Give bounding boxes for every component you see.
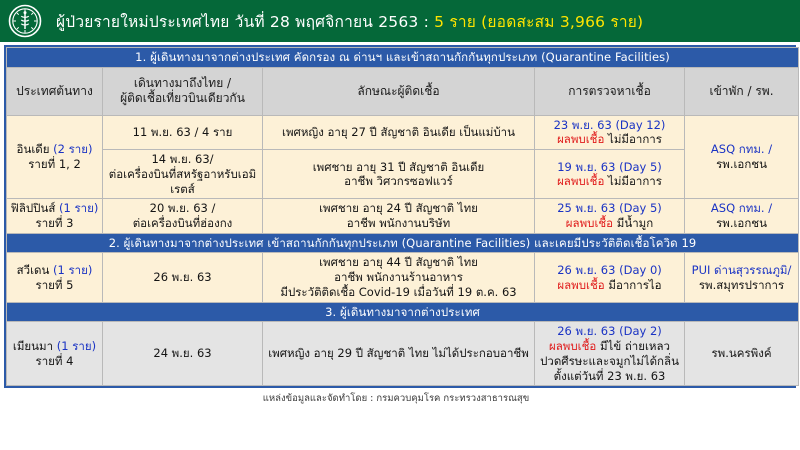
test-result-status: ผลพบเชื้อ	[557, 278, 604, 292]
test-symptoms: ไม่มีอาการ	[604, 174, 662, 188]
test-result-status: ผลพบเชื้อ	[566, 216, 613, 230]
cell-arrival: 26 พ.ย. 63	[103, 253, 263, 302]
table-row: อินเดีย (2 ราย) รายที่ 1, 2 11 พ.ย. 63 /…	[7, 115, 799, 149]
arrival-line: ต่อเครื่องบินที่สหรัฐอาหรับเอมิเรตส์	[106, 167, 259, 196]
country-case-count: (2 ราย)	[53, 142, 92, 156]
report-page: ผู้ป่วยรายใหม่ประเทศไทย วันที่ 28 พฤศจิก…	[0, 0, 800, 450]
column-header-accommodation: เข้าพัก / รพ.	[685, 67, 799, 115]
cell-accommodation: ASQ กทม. / รพ.เอกชน	[685, 115, 799, 199]
profile-line: เพศชาย อายุ 24 ปี สัญชาติ ไทย	[266, 201, 531, 216]
section-header-2: 2. ผู้เดินทางมาจากต่างประเทศ เข้าสถานกัก…	[7, 233, 799, 253]
source-attribution: แหล่งข้อมูลและจัดทำโดย : กรมควบคุมโรค กร…	[0, 391, 800, 406]
cell-origin-country: ฟิลิปปินส์ (1 ราย) รายที่ 3	[7, 199, 103, 233]
country-case-numbers: รายที่ 1, 2	[10, 157, 99, 172]
accommodation-hospital: รพ.นครพิงค์	[688, 346, 795, 361]
profile-line: อาชีพ พนักงานร้านอาหาร	[266, 270, 531, 285]
arrival-line: 11 พ.ย. 63 / 4 ราย	[106, 125, 259, 140]
country-label: อินเดีย (2 ราย)	[10, 142, 99, 157]
country-case-count: (1 ราย)	[53, 263, 92, 277]
cases-table: 1. ผู้เดินทางมาจากต่างประเทศ คัดกรอง ณ ด…	[6, 47, 799, 386]
profile-line: อาชีพ วิศวกรซอฟแวร์	[266, 174, 531, 189]
arrival-line: 24 พ.ย. 63	[106, 346, 259, 361]
test-result-status: ผลพบเชื้อ	[549, 339, 596, 353]
table-row: สวีเดน (1 ราย) รายที่ 5 26 พ.ย. 63 เพศชา…	[7, 253, 799, 302]
table-column-header-row: ประเทศต้นทาง เดินทางมาถึงไทย / ผู้ติดเชื…	[7, 67, 799, 115]
country-name: อินเดีย	[17, 142, 50, 156]
accommodation-facility: PUI ด่านสุวรรณภูมิ/	[688, 263, 795, 278]
country-name: ฟิลิปปินส์	[11, 201, 56, 215]
test-symptoms-extra: ตั้งแต่วันที่ 23 พ.ย. 63	[538, 369, 681, 384]
column-header-origin-country: ประเทศต้นทาง	[7, 67, 103, 115]
column-header-arrival: เดินทางมาถึงไทย / ผู้ติดเชื้อเที่ยวบินเด…	[103, 67, 263, 115]
country-label: เมียนมา (1 ราย)	[10, 339, 99, 354]
arrival-line: ต่อเครื่องบินที่ฮ่องกง	[106, 216, 259, 231]
cell-test-result: 25 พ.ย. 63 (Day 5) ผลพบเชื้อ มีน้ำมูก	[535, 199, 685, 233]
test-symptoms: มีไข้ ถ่ายเหลว	[596, 339, 670, 353]
table-row: ฟิลิปปินส์ (1 ราย) รายที่ 3 20 พ.ย. 63 /…	[7, 199, 799, 233]
arrival-line: 20 พ.ย. 63 /	[106, 201, 259, 216]
country-label: ฟิลิปปินส์ (1 ราย)	[10, 201, 99, 216]
test-symptoms: มีน้ำมูก	[613, 216, 653, 230]
accommodation-hospital: รพ.สมุทรปราการ	[688, 278, 795, 293]
column-header-line: เดินทางมาถึงไทย /	[106, 76, 259, 91]
cell-accommodation: ASQ กทม. / รพ.เอกชน	[685, 199, 799, 233]
cell-case-profile: เพศหญิง อายุ 27 ปี สัญชาติ อินเดีย เป็นแ…	[263, 115, 535, 149]
cell-arrival: 11 พ.ย. 63 / 4 ราย	[103, 115, 263, 149]
test-result-line: ผลพบเชื้อ ไม่มีอาการ	[538, 174, 681, 189]
cell-accommodation: PUI ด่านสุวรรณภูมิ/ รพ.สมุทรปราการ	[685, 253, 799, 302]
profile-line: เพศหญิง อายุ 29 ปี สัญชาติ ไทย ไม่ได้ประ…	[266, 346, 531, 361]
test-result-line: ผลพบเชื้อ ไม่มีอาการ	[538, 132, 681, 147]
column-header-test-result: การตรวจหาเชื้อ	[535, 67, 685, 115]
column-header-line: ลักษณะผู้ติดเชื้อ	[266, 84, 531, 99]
country-label: สวีเดน (1 ราย)	[10, 263, 99, 278]
table-row: เมียนมา (1 ราย) รายที่ 4 24 พ.ย. 63 เพศห…	[7, 322, 799, 386]
cell-case-profile: เพศชาย อายุ 44 ปี สัญชาติ ไทย อาชีพ พนัก…	[263, 253, 535, 302]
section-header-3: 3. ผู้เดินทางมาจากต่างประเทศ	[7, 302, 799, 322]
country-case-count: (1 ราย)	[57, 339, 96, 353]
cell-test-result: 26 พ.ย. 63 (Day 0) ผลพบเชื้อ มีอาการไอ	[535, 253, 685, 302]
cell-accommodation: รพ.นครพิงค์	[685, 322, 799, 386]
test-date: 26 พ.ย. 63 (Day 2)	[538, 324, 681, 339]
cell-test-result: 23 พ.ย. 63 (Day 12) ผลพบเชื้อ ไม่มีอาการ	[535, 115, 685, 149]
column-header-case-profile: ลักษณะผู้ติดเชื้อ	[263, 67, 535, 115]
cell-test-result: 19 พ.ย. 63 (Day 5) ผลพบเชื้อ ไม่มีอาการ	[535, 150, 685, 199]
column-header-line: ผู้ติดเชื้อเที่ยวบินเดียวกัน	[106, 91, 259, 106]
country-name: เมียนมา	[13, 339, 53, 353]
cell-case-profile: เพศชาย อายุ 24 ปี สัญชาติ ไทย อาชีพ พนัก…	[263, 199, 535, 233]
page-header: ผู้ป่วยรายใหม่ประเทศไทย วันที่ 28 พฤศจิก…	[0, 0, 800, 42]
test-date: 19 พ.ย. 63 (Day 5)	[538, 160, 681, 175]
cases-table-frame: 1. ผู้เดินทางมาจากต่างประเทศ คัดกรอง ณ ด…	[4, 45, 796, 388]
profile-line: เพศหญิง อายุ 27 ปี สัญชาติ อินเดีย เป็นแ…	[266, 125, 531, 140]
test-result-status: ผลพบเชื้อ	[557, 132, 604, 146]
section-header-1: 1. ผู้เดินทางมาจากต่างประเทศ คัดกรอง ณ ด…	[7, 48, 799, 68]
page-title-main: ผู้ป่วยรายใหม่ประเทศไทย วันที่ 28 พฤศจิก…	[56, 13, 434, 31]
cell-origin-country: เมียนมา (1 ราย) รายที่ 4	[7, 322, 103, 386]
test-result-line: ผลพบเชื้อ มีไข้ ถ่ายเหลว	[538, 339, 681, 354]
column-header-line: การตรวจหาเชื้อ	[538, 84, 681, 99]
cell-arrival: 20 พ.ย. 63 / ต่อเครื่องบินที่ฮ่องกง	[103, 199, 263, 233]
cell-test-result: 26 พ.ย. 63 (Day 2) ผลพบเชื้อ มีไข้ ถ่ายเ…	[535, 322, 685, 386]
accommodation-facility: ASQ กทม. /	[688, 142, 795, 157]
profile-line: เพศชาย อายุ 44 ปี สัญชาติ ไทย	[266, 255, 531, 270]
section-header-2-label: 2. ผู้เดินทางมาจากต่างประเทศ เข้าสถานกัก…	[7, 233, 799, 253]
test-date: 23 พ.ย. 63 (Day 12)	[538, 118, 681, 133]
section-header-3-label: 3. ผู้เดินทางมาจากต่างประเทศ	[7, 302, 799, 322]
cell-arrival: 14 พ.ย. 63/ ต่อเครื่องบินที่สหรัฐอาหรับเ…	[103, 150, 263, 199]
test-date: 25 พ.ย. 63 (Day 5)	[538, 201, 681, 216]
test-symptoms-extra: ปวดศีรษะและจมูกไม่ได้กลิ่น	[538, 354, 681, 369]
column-header-line: ประเทศต้นทาง	[10, 84, 99, 99]
table-row: 14 พ.ย. 63/ ต่อเครื่องบินที่สหรัฐอาหรับเ…	[7, 150, 799, 199]
page-title: ผู้ป่วยรายใหม่ประเทศไทย วันที่ 28 พฤศจิก…	[56, 9, 643, 34]
arrival-line: 14 พ.ย. 63/	[106, 152, 259, 167]
test-symptoms: ไม่มีอาการ	[604, 132, 662, 146]
page-title-accent: 5 ราย (ยอดสะสม 3,966 ราย)	[434, 13, 643, 31]
country-name: สวีเดน	[17, 263, 50, 277]
ministry-of-public-health-emblem-icon	[8, 4, 42, 38]
test-date: 26 พ.ย. 63 (Day 0)	[538, 263, 681, 278]
test-symptoms: มีอาการไอ	[605, 278, 662, 292]
test-result-line: ผลพบเชื้อ มีน้ำมูก	[538, 216, 681, 231]
cell-case-profile: เพศชาย อายุ 31 ปี สัญชาติ อินเดีย อาชีพ …	[263, 150, 535, 199]
profile-line: อาชีพ พนักงานบริษัท	[266, 216, 531, 231]
cell-origin-country: สวีเดน (1 ราย) รายที่ 5	[7, 253, 103, 302]
country-case-numbers: รายที่ 5	[10, 278, 99, 293]
cell-origin-country: อินเดีย (2 ราย) รายที่ 1, 2	[7, 115, 103, 199]
column-header-line: เข้าพัก / รพ.	[688, 84, 795, 99]
arrival-line: 26 พ.ย. 63	[106, 270, 259, 285]
profile-line: มีประวัติติดเชื้อ Covid-19 เมื่อวันที่ 1…	[266, 285, 531, 300]
country-case-count: (1 ราย)	[59, 201, 98, 215]
profile-line: เพศชาย อายุ 31 ปี สัญชาติ อินเดีย	[266, 160, 531, 175]
cell-case-profile: เพศหญิง อายุ 29 ปี สัญชาติ ไทย ไม่ได้ประ…	[263, 322, 535, 386]
country-case-numbers: รายที่ 3	[10, 216, 99, 231]
accommodation-hospital: รพ.เอกชน	[688, 157, 795, 172]
accommodation-facility: ASQ กทม. /	[688, 201, 795, 216]
test-result-status: ผลพบเชื้อ	[557, 174, 604, 188]
accommodation-hospital: รพ.เอกชน	[688, 216, 795, 231]
cell-arrival: 24 พ.ย. 63	[103, 322, 263, 386]
section-header-1-label: 1. ผู้เดินทางมาจากต่างประเทศ คัดกรอง ณ ด…	[7, 48, 799, 68]
country-case-numbers: รายที่ 4	[10, 354, 99, 369]
test-result-line: ผลพบเชื้อ มีอาการไอ	[538, 278, 681, 293]
